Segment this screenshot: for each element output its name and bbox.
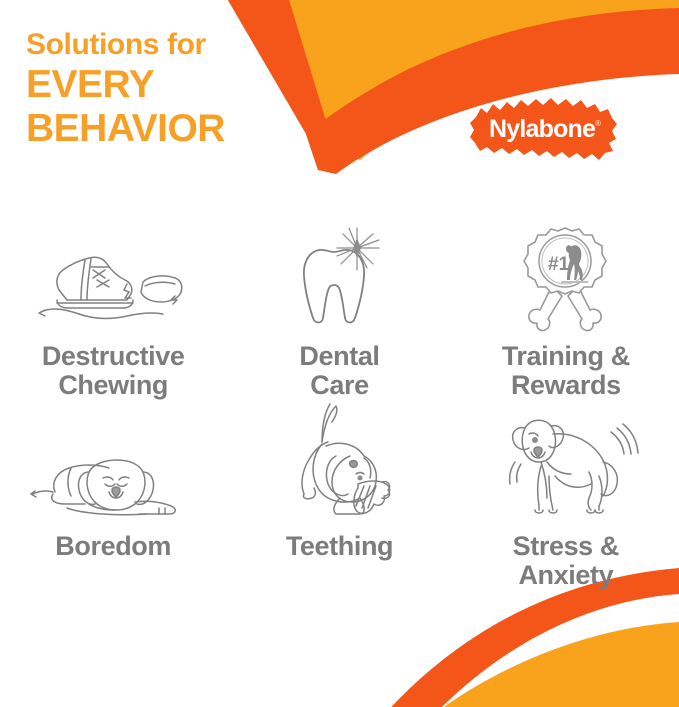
logo-wordmark: Nylabone: [489, 115, 596, 143]
behavior-label: Stress & Anxiety: [513, 532, 619, 590]
behavior-label: Training & Rewards: [502, 342, 630, 400]
behavior-cell-stress-anxiety: Stress & Anxiety: [453, 428, 679, 618]
headline-line-2: EVERY: [26, 65, 225, 104]
nylabone-logo: Nylabone ®: [467, 93, 621, 165]
behavior-cell-training-rewards: #1 Training & Rewards: [453, 238, 679, 428]
behavior-label: Destructive Chewing: [42, 342, 185, 400]
bottom-swoosh-light-shape: [470, 650, 679, 707]
sparkling-tooth-icon: [279, 242, 399, 334]
behavior-cell-boredom: Boredom: [0, 428, 226, 618]
behavior-label: Teething: [286, 532, 393, 561]
behavior-label: Dental Care: [299, 342, 379, 400]
nylabone-behavior-infographic: Solutions for EVERY BEHAVIOR Nylabone ®: [0, 0, 679, 707]
behavior-cell-teething: Teething: [226, 428, 452, 618]
logo-registered-mark: ®: [595, 119, 601, 128]
headline-line-1: Solutions for: [26, 30, 225, 60]
badge-rank-text: #1: [548, 254, 570, 275]
chewed-shoe-icon: [23, 242, 203, 334]
behavior-cell-destructive-chewing: Destructive Chewing: [0, 238, 226, 428]
lying-down-dog-icon: [23, 432, 203, 524]
trembling-dog-icon: [491, 432, 641, 524]
behavior-label: Boredom: [55, 532, 171, 561]
top-swoosh-dark-band: [222, 0, 330, 170]
behavior-icon-grid: Destructive Chewing Dental Care: [0, 238, 679, 618]
award-badge-dog-icon: #1: [506, 242, 626, 334]
headline: Solutions for EVERY BEHAVIOR: [26, 30, 225, 148]
puppy-chewing-bone-icon: [264, 432, 414, 524]
headline-line-3: BEHAVIOR: [26, 109, 225, 148]
bottom-swoosh-light-fill: [430, 622, 679, 707]
